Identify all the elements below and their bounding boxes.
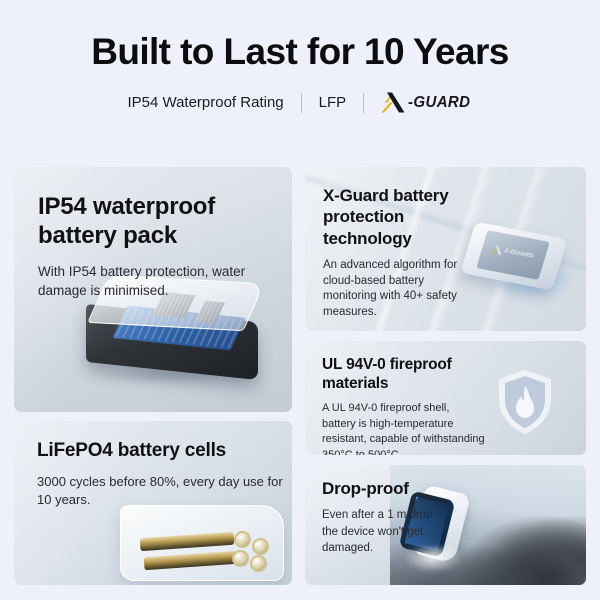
feature-card-grid: IP54 waterproof battery pack With IP54 b… <box>0 0 600 600</box>
card-title-xguard: X-Guard battery protection technology <box>323 185 465 249</box>
infographic-page: Built to Last for 10 Years IP54 Waterpro… <box>0 0 600 600</box>
card-title-lifepo4: LiFePO4 battery cells <box>37 440 292 463</box>
card-xguard-protection[interactable]: X-GUARD X-Guard battery protection techn… <box>305 167 586 331</box>
chip-wordmark: X-GUARD <box>503 248 534 259</box>
card-ip54-waterproof[interactable]: IP54 waterproof battery pack With IP54 b… <box>14 167 292 412</box>
card-text-xguard: An advanced algorithm for cloud-based ba… <box>323 258 465 321</box>
card-text-fireproof: A UL 94V-0 fireproof shell, battery is h… <box>322 401 485 455</box>
card-title-dropproof: Drop-proof <box>322 479 450 499</box>
card-drop-proof[interactable]: Drop-proof Even after a 1 m drop the dev… <box>305 465 586 585</box>
shield-flame-icon <box>494 367 556 437</box>
card-text-ip54: With IP54 battery protection, water dama… <box>38 262 292 300</box>
card-title-fireproof: UL 94V-0 fireproof materials <box>322 356 485 393</box>
card-lifepo4-cells[interactable]: LiFePO4 battery cells 3000 cycles before… <box>14 421 292 585</box>
battery-cells-illustration <box>120 505 284 581</box>
card-text-dropproof: Even after a 1 m drop the device won't g… <box>322 507 450 556</box>
card-fireproof-materials[interactable]: UL 94V-0 fireproof materials A UL 94V-0 … <box>305 341 586 455</box>
xguard-chip-illustration: X-GUARD <box>468 221 564 295</box>
card-text-lifepo4: 3000 cycles before 80%, every day use fo… <box>37 473 292 510</box>
card-title-ip54: IP54 waterproof battery pack <box>38 192 292 251</box>
